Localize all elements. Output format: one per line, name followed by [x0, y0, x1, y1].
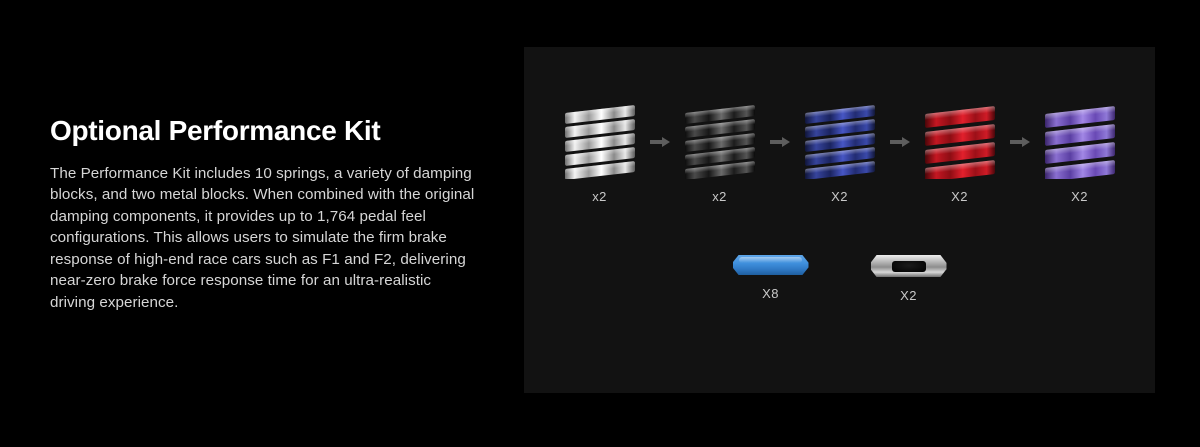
spring-item-blue: X2	[797, 105, 883, 204]
spring-item-red: X2	[917, 105, 1003, 204]
arrow-separator-4	[1003, 105, 1037, 179]
black-spring-icon	[684, 105, 756, 179]
block-quantity-label: X2	[900, 288, 917, 303]
spring-row: x2 x2	[524, 105, 1155, 204]
arrow-right-icon	[890, 137, 910, 147]
block-row: X8 X2	[524, 255, 1155, 303]
page-title: Optional Performance Kit	[50, 116, 480, 147]
spring-quantity-label: X2	[831, 189, 848, 204]
arrow-separator-1	[643, 105, 677, 179]
metal-block-icon	[871, 255, 947, 277]
metal-block-hole	[892, 261, 926, 272]
performance-kit-image-panel: x2 x2	[524, 47, 1155, 393]
blue-spring-icon	[804, 105, 876, 179]
block-quantity-label: X8	[762, 286, 779, 301]
purple-spring-icon	[1044, 105, 1116, 179]
spring-quantity-label: X2	[951, 189, 968, 204]
description-paragraph: The Performance Kit includes 10 springs,…	[50, 163, 480, 314]
damping-block-icon	[733, 255, 809, 275]
spring-quantity-label: X2	[1071, 189, 1088, 204]
block-item-damping: X8	[733, 255, 809, 303]
spring-item-chrome: x2	[557, 105, 643, 204]
arrow-separator-2	[763, 105, 797, 179]
arrow-right-icon	[770, 137, 790, 147]
spring-item-purple: X2	[1037, 105, 1123, 204]
chrome-spring-icon	[564, 105, 636, 179]
spring-quantity-label: x2	[712, 189, 727, 204]
spring-item-black: x2	[677, 105, 763, 204]
spring-quantity-label: x2	[592, 189, 607, 204]
arrow-right-icon	[1010, 137, 1030, 147]
red-spring-icon	[924, 105, 996, 179]
block-item-metal: X2	[871, 255, 947, 303]
performance-kit-text-column: Optional Performance Kit The Performance…	[50, 116, 480, 313]
arrow-separator-3	[883, 105, 917, 179]
arrow-right-icon	[650, 137, 670, 147]
